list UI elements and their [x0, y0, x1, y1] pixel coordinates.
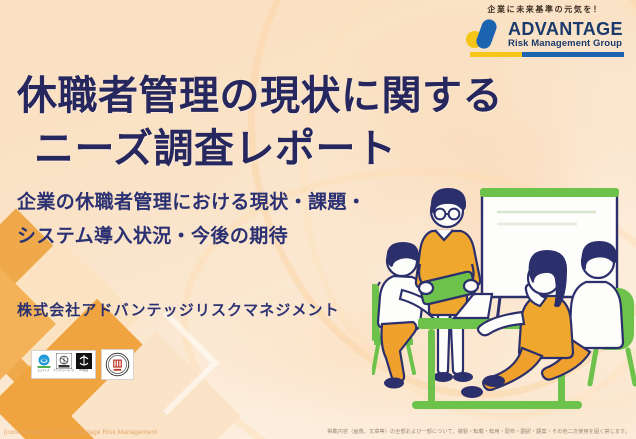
- brand-tagline: 企業に未来基準の元気を！: [462, 4, 628, 15]
- logo-rule-yellow: [470, 52, 522, 57]
- brand-logo: 企業に未来基準の元気を！ ADVANTAGE Risk Management G…: [462, 4, 628, 57]
- iso-badge-icon: ISO認証: [75, 353, 92, 376]
- page-title: 休職者管理の現状に関する ニーズ調査レポート: [17, 70, 537, 176]
- jis-badge-group: JIS認証: [101, 349, 134, 380]
- eco-mark-icon: [36, 353, 52, 369]
- logo-rule-blue: [522, 52, 624, 57]
- page-title-line-1: 休職者管理の現状に関する: [17, 70, 537, 123]
- footer-copyright: [confidential] © 2025 Advantage Risk Man…: [4, 429, 157, 436]
- report-cover-slide: 企業に未来基準の元気を！ ADVANTAGE Risk Management G…: [0, 0, 636, 439]
- iso-caption: ISO認証: [79, 370, 88, 372]
- logo-blue-bar-icon: [474, 17, 498, 50]
- meeting-scene-svg: [372, 178, 636, 418]
- person-standing: [416, 188, 480, 382]
- company-name: 株式会社アドバンテッジリスクマネジメント: [17, 299, 340, 320]
- iso-mark-icon: [76, 353, 92, 369]
- eco-mark-badge-icon: エコマーク: [35, 353, 52, 376]
- logo-name: ADVANTAGE: [508, 20, 623, 38]
- certification-badge-group: エコマーク プライバシーマーク ISO認証: [31, 350, 96, 379]
- logo-text: ADVANTAGE Risk Management Group: [508, 20, 623, 49]
- logo-subtitle: Risk Management Group: [508, 39, 623, 49]
- eco-mark-caption: エコマーク: [38, 370, 50, 372]
- privacy-mark-icon: [56, 353, 72, 369]
- business-meeting-illustration: [372, 178, 636, 418]
- certification-badges: エコマーク プライバシーマーク ISO認証: [31, 349, 134, 380]
- privacy-mark-badge-icon: プライバシーマーク: [55, 353, 72, 376]
- privacy-mark-caption: プライバシーマーク: [53, 370, 74, 372]
- logo-lockup: ADVANTAGE Risk Management Group: [462, 19, 628, 49]
- footer-usage-notice: 掲載内容（画像、文章等）の全部および一部について、複製・転載・転用・配布・翻訳・…: [327, 428, 630, 435]
- advantage-logo-mark-icon: [466, 19, 508, 49]
- logo-underline-rule: [470, 52, 624, 57]
- jis-round-badge-icon: [105, 352, 130, 377]
- page-title-line-2: ニーズ調査レポート: [17, 123, 537, 176]
